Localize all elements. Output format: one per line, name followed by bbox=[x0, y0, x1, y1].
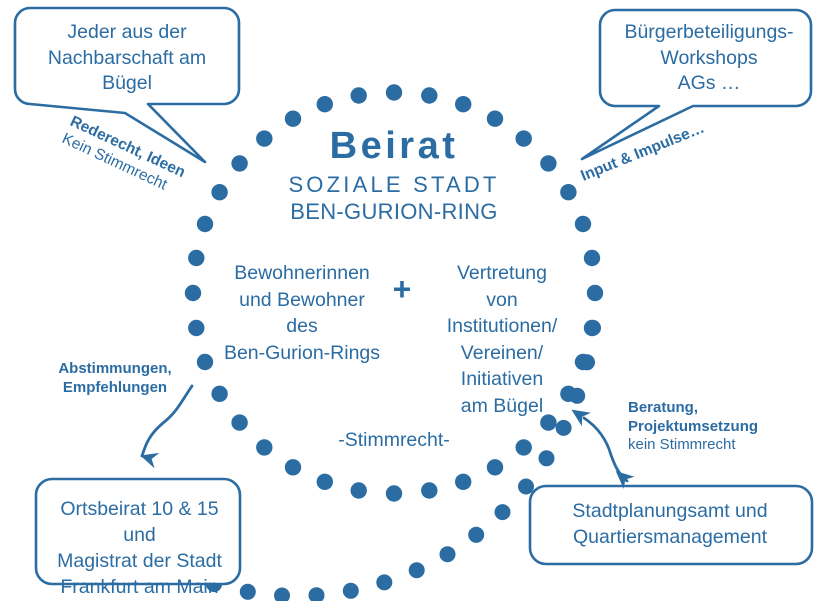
subtitle-ben-gurion-ring: BEN-GURION-RING bbox=[244, 200, 544, 224]
annotation-abstimmungen-bold: Abstimmungen, Empfehlungen bbox=[40, 360, 190, 397]
plus-icon: + bbox=[384, 273, 420, 305]
members-institutions: Vertretung von Institutionen/ Vereinen/ … bbox=[424, 260, 580, 419]
members-residents: Bewohnerinnen und Bewohner des Ben-Gurio… bbox=[212, 260, 392, 366]
bubble-top-left-text: Jeder aus der Nachbarschaft am Bügel bbox=[22, 20, 232, 97]
annotation-beratung-regular: kein Stimmrecht bbox=[628, 436, 788, 455]
arrow-beratung-bidirectional bbox=[584, 418, 627, 481]
page-title: Beirat bbox=[244, 127, 544, 167]
box-bottom-left-text: Ortsbeirat 10 & 15 und Magistrat der Sta… bbox=[42, 496, 237, 601]
subtitle-soziale-stadt: SOZIALE STADT bbox=[244, 173, 544, 197]
annotation-abstimmungen: Abstimmungen, Empfehlungen bbox=[40, 360, 190, 397]
voting-rights-note: -Stimmrecht- bbox=[294, 429, 494, 452]
diagram-canvas: Jeder aus der Nachbarschaft am Bügel Bür… bbox=[0, 0, 820, 600]
bubble-top-right-text: Bürgerbeteiligungs- Workshops AGs … bbox=[606, 20, 812, 97]
annotation-beratung: Beratung, Projektumsetzung kein Stimmrec… bbox=[628, 399, 788, 455]
box-bottom-right-text: Stadtplanungsamt und Quartiersmanagement bbox=[536, 498, 804, 550]
annotation-beratung-bold: Beratung, Projektumsetzung bbox=[628, 399, 788, 436]
